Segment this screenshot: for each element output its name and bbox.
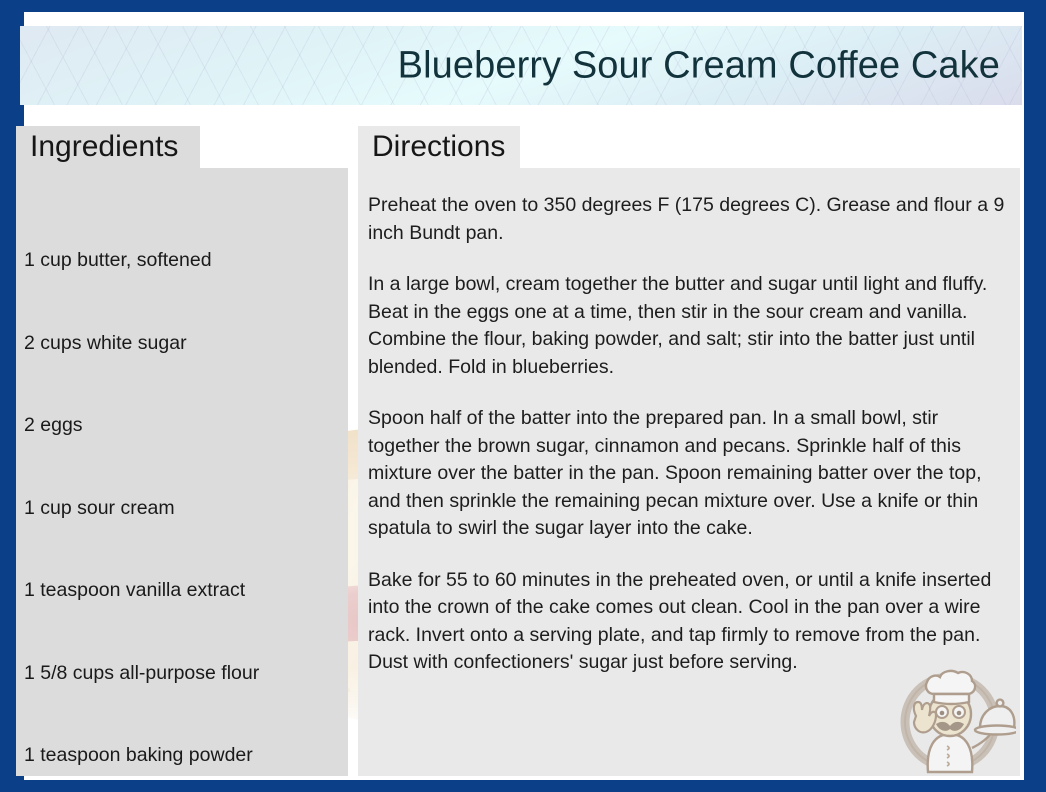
list-item: 1 teaspoon vanilla extract bbox=[24, 577, 354, 605]
direction-paragraph: Bake for 55 to 60 minutes in the preheat… bbox=[368, 567, 1008, 677]
list-item: 2 eggs bbox=[24, 412, 354, 440]
direction-paragraph: Spoon half of the batter into the prepar… bbox=[368, 405, 1008, 543]
list-item: 1 5/8 cups all-purpose flour bbox=[24, 660, 354, 688]
ingredients-heading: Ingredients bbox=[30, 130, 178, 164]
directions-text: Preheat the oven to 350 degrees F (175 d… bbox=[368, 192, 1008, 677]
recipe-card-page: Blueberry Sour Cream Coffee Cake bbox=[0, 0, 1046, 792]
list-item: 2 cups white sugar bbox=[24, 330, 354, 358]
list-item: 1 cup butter, softened bbox=[24, 247, 354, 275]
directions-tab: Directions bbox=[358, 126, 520, 168]
list-item: 1 cup sour cream bbox=[24, 495, 354, 523]
ingredients-list: 1 cup butter, softened 2 cups white suga… bbox=[24, 192, 354, 792]
direction-paragraph: In a large bowl, cream together the butt… bbox=[368, 271, 1008, 381]
direction-paragraph: Preheat the oven to 350 degrees F (175 d… bbox=[368, 192, 1008, 247]
directions-heading: Directions bbox=[372, 130, 505, 164]
list-item: 1 teaspoon baking powder bbox=[24, 742, 354, 770]
ingredients-tab: Ingredients bbox=[16, 126, 200, 168]
page-title: Blueberry Sour Cream Coffee Cake bbox=[398, 44, 1000, 87]
title-banner: Blueberry Sour Cream Coffee Cake bbox=[20, 26, 1022, 105]
